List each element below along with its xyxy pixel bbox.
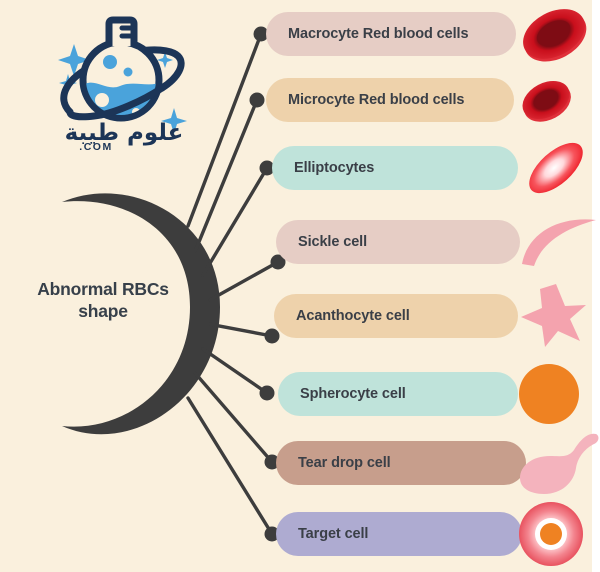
label-row: Elliptocytes [0, 146, 592, 190]
label-pill-text: Target cell [298, 526, 368, 542]
tear-drop-cell-icon [518, 430, 600, 496]
acanthocyte-star-icon [518, 281, 588, 351]
sickle-cell-icon [518, 214, 600, 270]
label-pill-1[interactable]: Macrocyte Red blood cells [266, 12, 516, 56]
label-pill-7[interactable]: Tear drop cell [276, 441, 526, 485]
label-pill-8[interactable]: Target cell [276, 512, 522, 556]
label-pill-2[interactable]: Microcyte Red blood cells [266, 78, 514, 122]
label-pill-text: Macrocyte Red blood cells [288, 26, 468, 42]
microcyte-rbc-icon [518, 76, 574, 124]
label-row: Spherocyte cell [0, 372, 592, 416]
label-pill-6[interactable]: Spherocyte cell [278, 372, 518, 416]
macrocyte-rbc-icon [518, 3, 590, 65]
label-row: Microcyte Red blood cells [0, 78, 592, 122]
elliptocyte-icon [518, 135, 594, 201]
label-pill-4[interactable]: Sickle cell [276, 220, 520, 264]
label-pill-text: Sickle cell [298, 234, 367, 250]
infographic-canvas: علوم طيبة .COM Abnormal RBCs shape Macro… [0, 0, 592, 572]
label-row: Sickle cell [0, 220, 592, 264]
label-pill-text: Acanthocyte cell [296, 308, 410, 324]
label-pill-text: Spherocyte cell [300, 386, 406, 402]
label-row: Macrocyte Red blood cells [0, 12, 592, 56]
infographic-root: علوم طيبة .COM Abnormal RBCs shape Macro… [0, 0, 600, 572]
label-row: Acanthocyte cell [0, 294, 592, 338]
spherocyte-icon [518, 363, 580, 425]
label-pill-text: Elliptocytes [294, 160, 374, 176]
label-pill-text: Tear drop cell [298, 455, 391, 471]
target-cell-icon [518, 501, 584, 567]
label-row: Target cell [0, 512, 592, 556]
label-pill-text: Microcyte Red blood cells [288, 92, 464, 108]
label-row: Tear drop cell [0, 441, 592, 485]
label-pill-5[interactable]: Acanthocyte cell [274, 294, 518, 338]
label-pill-3[interactable]: Elliptocytes [272, 146, 518, 190]
